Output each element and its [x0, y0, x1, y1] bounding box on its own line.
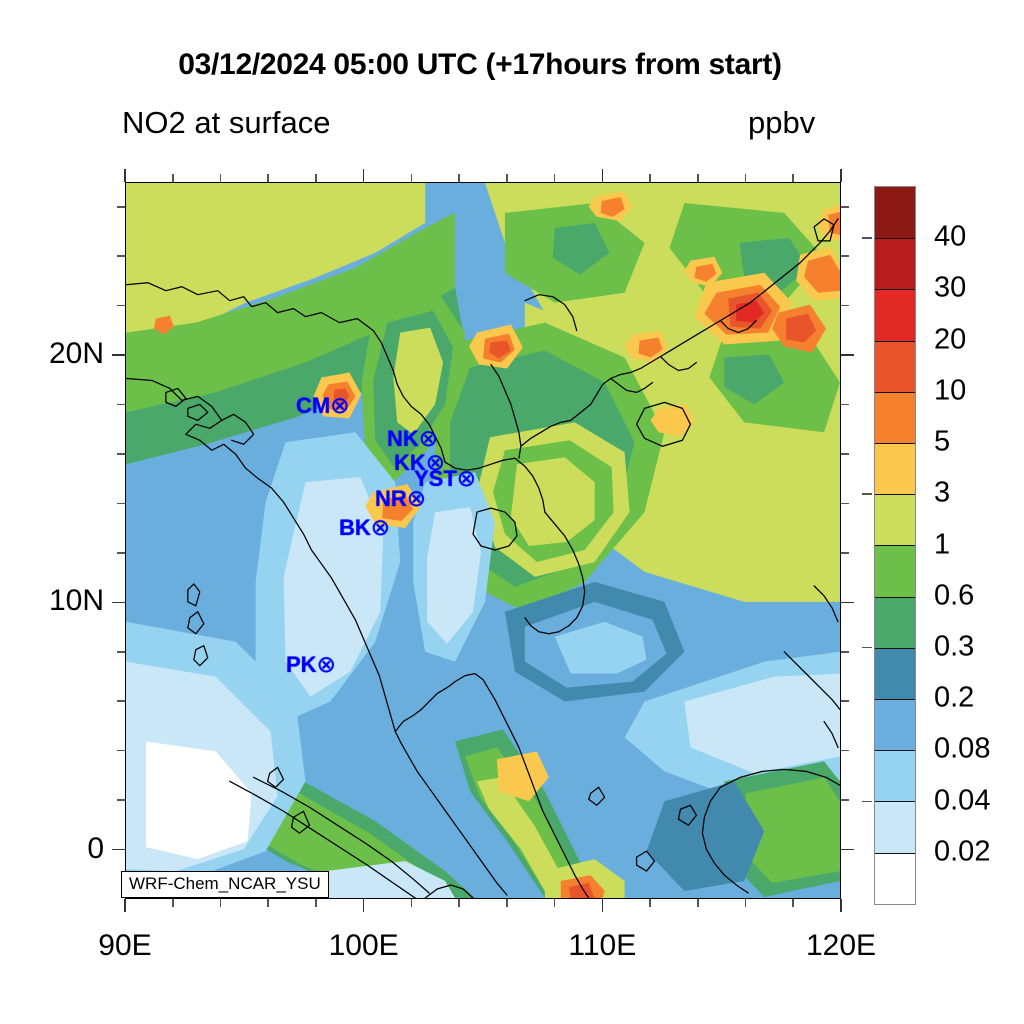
x-tick-118-bottom	[792, 899, 794, 907]
station-glyph-yst: ⊗	[457, 465, 476, 491]
colorbar-band-7	[875, 494, 915, 545]
y-tick-12-right	[841, 552, 849, 554]
y-tick-22-right	[841, 305, 849, 307]
x-tick-100-top	[363, 169, 365, 182]
y-tick-18-left	[117, 404, 125, 406]
colorbar-tick-label-0.08: 0.08	[934, 733, 990, 766]
x-tick-116-bottom	[745, 899, 747, 907]
station-label-bk: BK	[339, 515, 371, 540]
y-tick-24-right	[841, 255, 849, 257]
y-tick-0-right	[841, 849, 854, 851]
x-tick-92-top	[172, 174, 174, 182]
station-label-cm: CM	[296, 393, 330, 418]
colorbar-tick-label-0.02: 0.02	[934, 835, 990, 868]
colorbar-minor-tick-6	[862, 493, 872, 495]
y-tick-10-right	[841, 602, 854, 604]
colorbar-band-12	[875, 238, 915, 289]
x-tick-90-bottom	[124, 899, 126, 912]
contour-svg	[126, 183, 840, 898]
colorbar-band-4	[875, 648, 915, 699]
colorbar-band-6	[875, 545, 915, 596]
x-tick-106-bottom	[506, 899, 508, 907]
colorbar-band-0	[875, 853, 915, 904]
colorbar-tick-label-0.3: 0.3	[934, 630, 974, 663]
station-label-nr: NR	[375, 486, 407, 511]
colorbar[interactable]	[874, 186, 916, 905]
x-axis-label-90: 90E	[65, 929, 185, 963]
y-tick-16-left	[117, 453, 125, 455]
station-marker-cm[interactable]: CM⊗	[296, 394, 350, 417]
colorbar-tick-label-1: 1	[934, 528, 950, 561]
colorbar-minor-tick-12	[862, 801, 872, 803]
x-tick-104-top	[458, 174, 460, 182]
x-axis-label-110: 110E	[542, 929, 662, 963]
colorbar-band-8	[875, 443, 915, 494]
x-tick-112-top	[649, 174, 651, 182]
x-axis-label-120: 120E	[781, 929, 901, 963]
colorbar-tick-label-5: 5	[934, 426, 950, 459]
station-glyph-nk: ⊗	[419, 425, 438, 451]
y-tick-20-right	[841, 354, 854, 356]
colorbar-band-11	[875, 289, 915, 340]
station-label-nk: NK	[387, 426, 419, 451]
x-tick-96-top	[267, 174, 269, 182]
y-tick-4-right	[841, 750, 849, 752]
x-tick-96-bottom	[267, 899, 269, 907]
colorbar-tick-label-10: 10	[934, 374, 966, 407]
y-tick-16-right	[841, 453, 849, 455]
colorbar-band-9	[875, 392, 915, 443]
x-tick-116-top	[745, 174, 747, 182]
model-watermark: WRF-Chem_NCAR_YSU	[121, 871, 329, 898]
x-tick-98-top	[315, 174, 317, 182]
station-glyph-pk: ⊗	[317, 651, 336, 677]
station-glyph-bk: ⊗	[371, 514, 390, 540]
page-title: 03/12/2024 05:00 UTC (+17hours from star…	[0, 48, 960, 82]
x-tick-114-top	[697, 174, 699, 182]
x-tick-120-top	[840, 169, 842, 182]
x-tick-92-bottom	[172, 899, 174, 907]
y-tick-14-right	[841, 503, 849, 505]
y-tick-6-right	[841, 700, 849, 702]
x-tick-112-bottom	[649, 899, 651, 907]
x-tick-120-bottom	[840, 899, 842, 912]
y-axis-label-10: 10N	[0, 584, 104, 618]
station-label-pk: PK	[286, 652, 317, 677]
colorbar-tick-label-0.6: 0.6	[934, 579, 974, 612]
colorbar-band-5	[875, 597, 915, 648]
x-tick-104-bottom	[458, 899, 460, 907]
x-tick-110-bottom	[602, 899, 604, 912]
colorbar-band-1	[875, 801, 915, 852]
colorbar-tick-label-30: 30	[934, 272, 966, 305]
x-tick-108-top	[554, 174, 556, 182]
y-tick-26-right	[841, 206, 849, 208]
colorbar-tick-label-0.04: 0.04	[934, 784, 990, 817]
colorbar-band-10	[875, 341, 915, 392]
y-tick-6-left	[117, 700, 125, 702]
y-tick-18-right	[841, 404, 849, 406]
x-tick-108-bottom	[554, 899, 556, 907]
x-tick-90-top	[124, 169, 126, 182]
units-label: ppbv	[748, 105, 815, 141]
station-marker-nr[interactable]: NR⊗	[375, 487, 426, 510]
y-tick-14-left	[117, 503, 125, 505]
station-marker-pk[interactable]: PK⊗	[286, 653, 336, 676]
y-tick-20-left	[112, 354, 125, 356]
x-tick-106-top	[506, 174, 508, 182]
x-axis-label-100: 100E	[304, 929, 424, 963]
x-tick-102-bottom	[411, 899, 413, 907]
x-tick-110-top	[602, 169, 604, 182]
x-tick-118-top	[792, 174, 794, 182]
station-marker-bk[interactable]: BK⊗	[339, 516, 390, 539]
y-tick-0-left	[112, 849, 125, 851]
colorbar-band-3	[875, 699, 915, 750]
y-tick-26-left	[117, 206, 125, 208]
y-tick-2-right	[841, 799, 849, 801]
colorbar-band-2	[875, 750, 915, 801]
colorbar-band-13	[875, 187, 915, 238]
variable-label: NO2 at surface	[122, 105, 330, 141]
y-tick-2-left	[117, 799, 125, 801]
colorbar-minor-tick-1	[862, 237, 872, 239]
station-glyph-cm: ⊗	[330, 392, 349, 418]
colorbar-tick-label-40: 40	[934, 221, 966, 254]
x-tick-98-bottom	[315, 899, 317, 907]
x-tick-102-top	[411, 174, 413, 182]
station-marker-nk[interactable]: NK⊗	[387, 427, 438, 450]
colorbar-tick-label-3: 3	[934, 477, 950, 510]
y-tick-4-left	[117, 750, 125, 752]
y-tick-10-left	[112, 602, 125, 604]
x-tick-94-top	[220, 174, 222, 182]
y-axis-label-0: 0	[0, 832, 104, 866]
x-tick-94-bottom	[220, 899, 222, 907]
y-tick-22-left	[117, 305, 125, 307]
y-tick-8-left	[117, 651, 125, 653]
colorbar-tick-label-20: 20	[934, 323, 966, 356]
y-tick-24-left	[117, 255, 125, 257]
y-tick-8-right	[841, 651, 849, 653]
colorbar-tick-label-0.2: 0.2	[934, 682, 974, 715]
x-tick-114-bottom	[697, 899, 699, 907]
map-plot-area: CM⊗ NK⊗ KK⊗ YST⊗ NR⊗ BK⊗ PK⊗	[125, 182, 841, 899]
station-glyph-nr: ⊗	[407, 485, 426, 511]
no2-contour-field	[126, 183, 840, 898]
colorbar-minor-tick-9	[862, 647, 872, 649]
y-tick-12-left	[117, 552, 125, 554]
x-tick-100-bottom	[363, 899, 365, 912]
y-axis-label-20: 20N	[0, 337, 104, 371]
